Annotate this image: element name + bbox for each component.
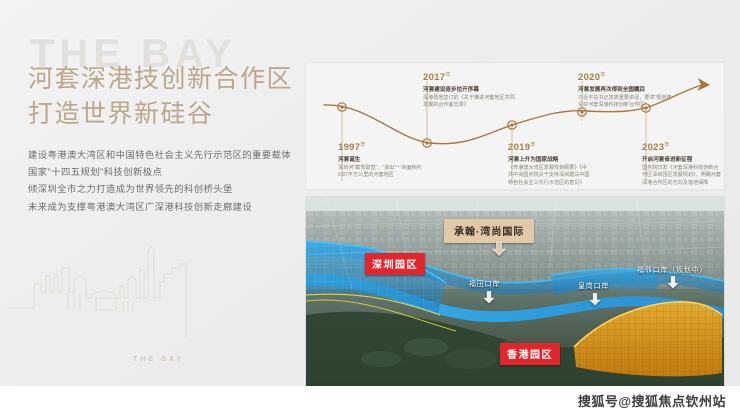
page-title: 河套深港技创新合作区 打造世界新硅谷 xyxy=(28,62,293,131)
map-label-hongkong-zone[interactable]: 香港园区 xyxy=(500,343,560,365)
timeline-node-2019[interactable]: 2019年 河套上升为国家战略 《粤港澳大湾区发展规划纲要》《中共中央国务院关于… xyxy=(508,143,592,188)
skyline-decoration-icon xyxy=(8,246,208,358)
timeline-headline: 开启河套奋进新征程 xyxy=(642,156,722,164)
map-label-port-huanggang[interactable]: 皇岗口岸 xyxy=(578,281,609,291)
timeline-card: 1997年 河套诞生 深圳河"截弯取直"、"造出"一块面积约0.87平方公里的河… xyxy=(305,62,725,190)
skyline-label: THE BAY xyxy=(133,356,184,363)
map-label-port-futian[interactable]: 福田口岸 xyxy=(469,279,500,289)
timeline-description: 习近平总书记发表重要讲话，要求"规划建设好河套深港科技创新合作区" xyxy=(578,95,674,110)
map-label-project[interactable]: 承翰·湾尚国际 xyxy=(444,219,534,243)
timeline-description: 国务院印发《河套深港科技创新合作区深圳园区发展规划》，明确河套深港合作区的方向及… xyxy=(642,165,722,188)
timeline-description: 深港再地签订的《关于推进河套地区共同发展的合作备忘录》 xyxy=(423,95,515,110)
timeline-year: 2017年 xyxy=(423,73,515,84)
timeline-node-2020[interactable]: 2020年 河套发展再次得到全国瞩目 习近平总书记发表重要讲话，要求"规划建设好… xyxy=(578,73,674,110)
timeline-year: 2019年 xyxy=(508,143,592,154)
body-line: 倾深圳全市之力打造成为世界领先的科创桥头堡 xyxy=(28,181,291,198)
timeline-headline: 河套发展再次得到全国瞩目 xyxy=(578,86,674,94)
timeline-year: 1997年 xyxy=(338,143,424,154)
timeline-description: 《粤港澳大湾区发展规划纲要》《中共中央国务院关于支持深圳建设中国特色社会主义先行… xyxy=(508,165,592,188)
timeline-headline: 河套建设逐步拉开序幕 xyxy=(423,86,515,94)
slide-root: THE BAY 河套深港技创新合作区 打造世界新硅谷 建设粤港澳大湾区和中国特色… xyxy=(0,0,740,416)
page-title-line-2: 打造世界新硅谷 xyxy=(28,97,293,132)
watermark-text: 搜狐号@搜狐焦点钦州站 xyxy=(578,391,726,410)
map-label-shenzhen-zone[interactable]: 深圳园区 xyxy=(365,253,425,275)
body-line: 未来成为支撑粤港澳大湾区广深港科技创新走廊建设 xyxy=(28,199,291,216)
timeline-year: 2020年 xyxy=(578,73,674,84)
body-line: 建设粤港澳大湾区和中国特色社会主义先行示范区的重要载体 xyxy=(28,147,291,164)
timeline-headline: 河套诞生 xyxy=(338,156,424,164)
page-title-line-1: 河套深港技创新合作区 xyxy=(28,65,293,93)
watermark-bar: 搜狐号@搜狐焦点钦州站 xyxy=(0,386,740,416)
body-line: 国家"十四五规划"科技创新极点 xyxy=(28,164,291,181)
body-copy: 建设粤港澳大湾区和中国特色社会主义先行示范区的重要载体 国家"十四五规划"科技创… xyxy=(28,147,291,216)
timeline-headline: 河套上升为国家战略 xyxy=(508,156,592,164)
timeline-node-2017[interactable]: 2017年 河套建设逐步拉开序幕 深港再地签订的《关于推进河套地区共同发展的合作… xyxy=(423,73,515,110)
map-label-port-fulin[interactable]: 福邻口岸（规划中） xyxy=(637,265,707,275)
aerial-map-image: 承翰·湾尚国际 深圳园区 香港园区 福田口岸 皇岗口岸 福邻口岸（规划中） xyxy=(305,196,725,388)
timeline-node-2023[interactable]: 2023年 开启河套奋进新征程 国务院印发《河套深港科技创新合作区深圳园区发展规… xyxy=(642,143,722,188)
timeline-year: 2023年 xyxy=(642,143,722,154)
timeline-node-1997[interactable]: 1997年 河套诞生 深圳河"截弯取直"、"造出"一块面积约0.87平方公里的河… xyxy=(338,143,424,180)
left-panel: THE BAY 河套深港技创新合作区 打造世界新硅谷 建设粤港澳大湾区和中国特色… xyxy=(0,0,300,416)
timeline-description: 深圳河"截弯取直"、"造出"一块面积约0.87平方公里的河套地区 xyxy=(338,165,424,180)
